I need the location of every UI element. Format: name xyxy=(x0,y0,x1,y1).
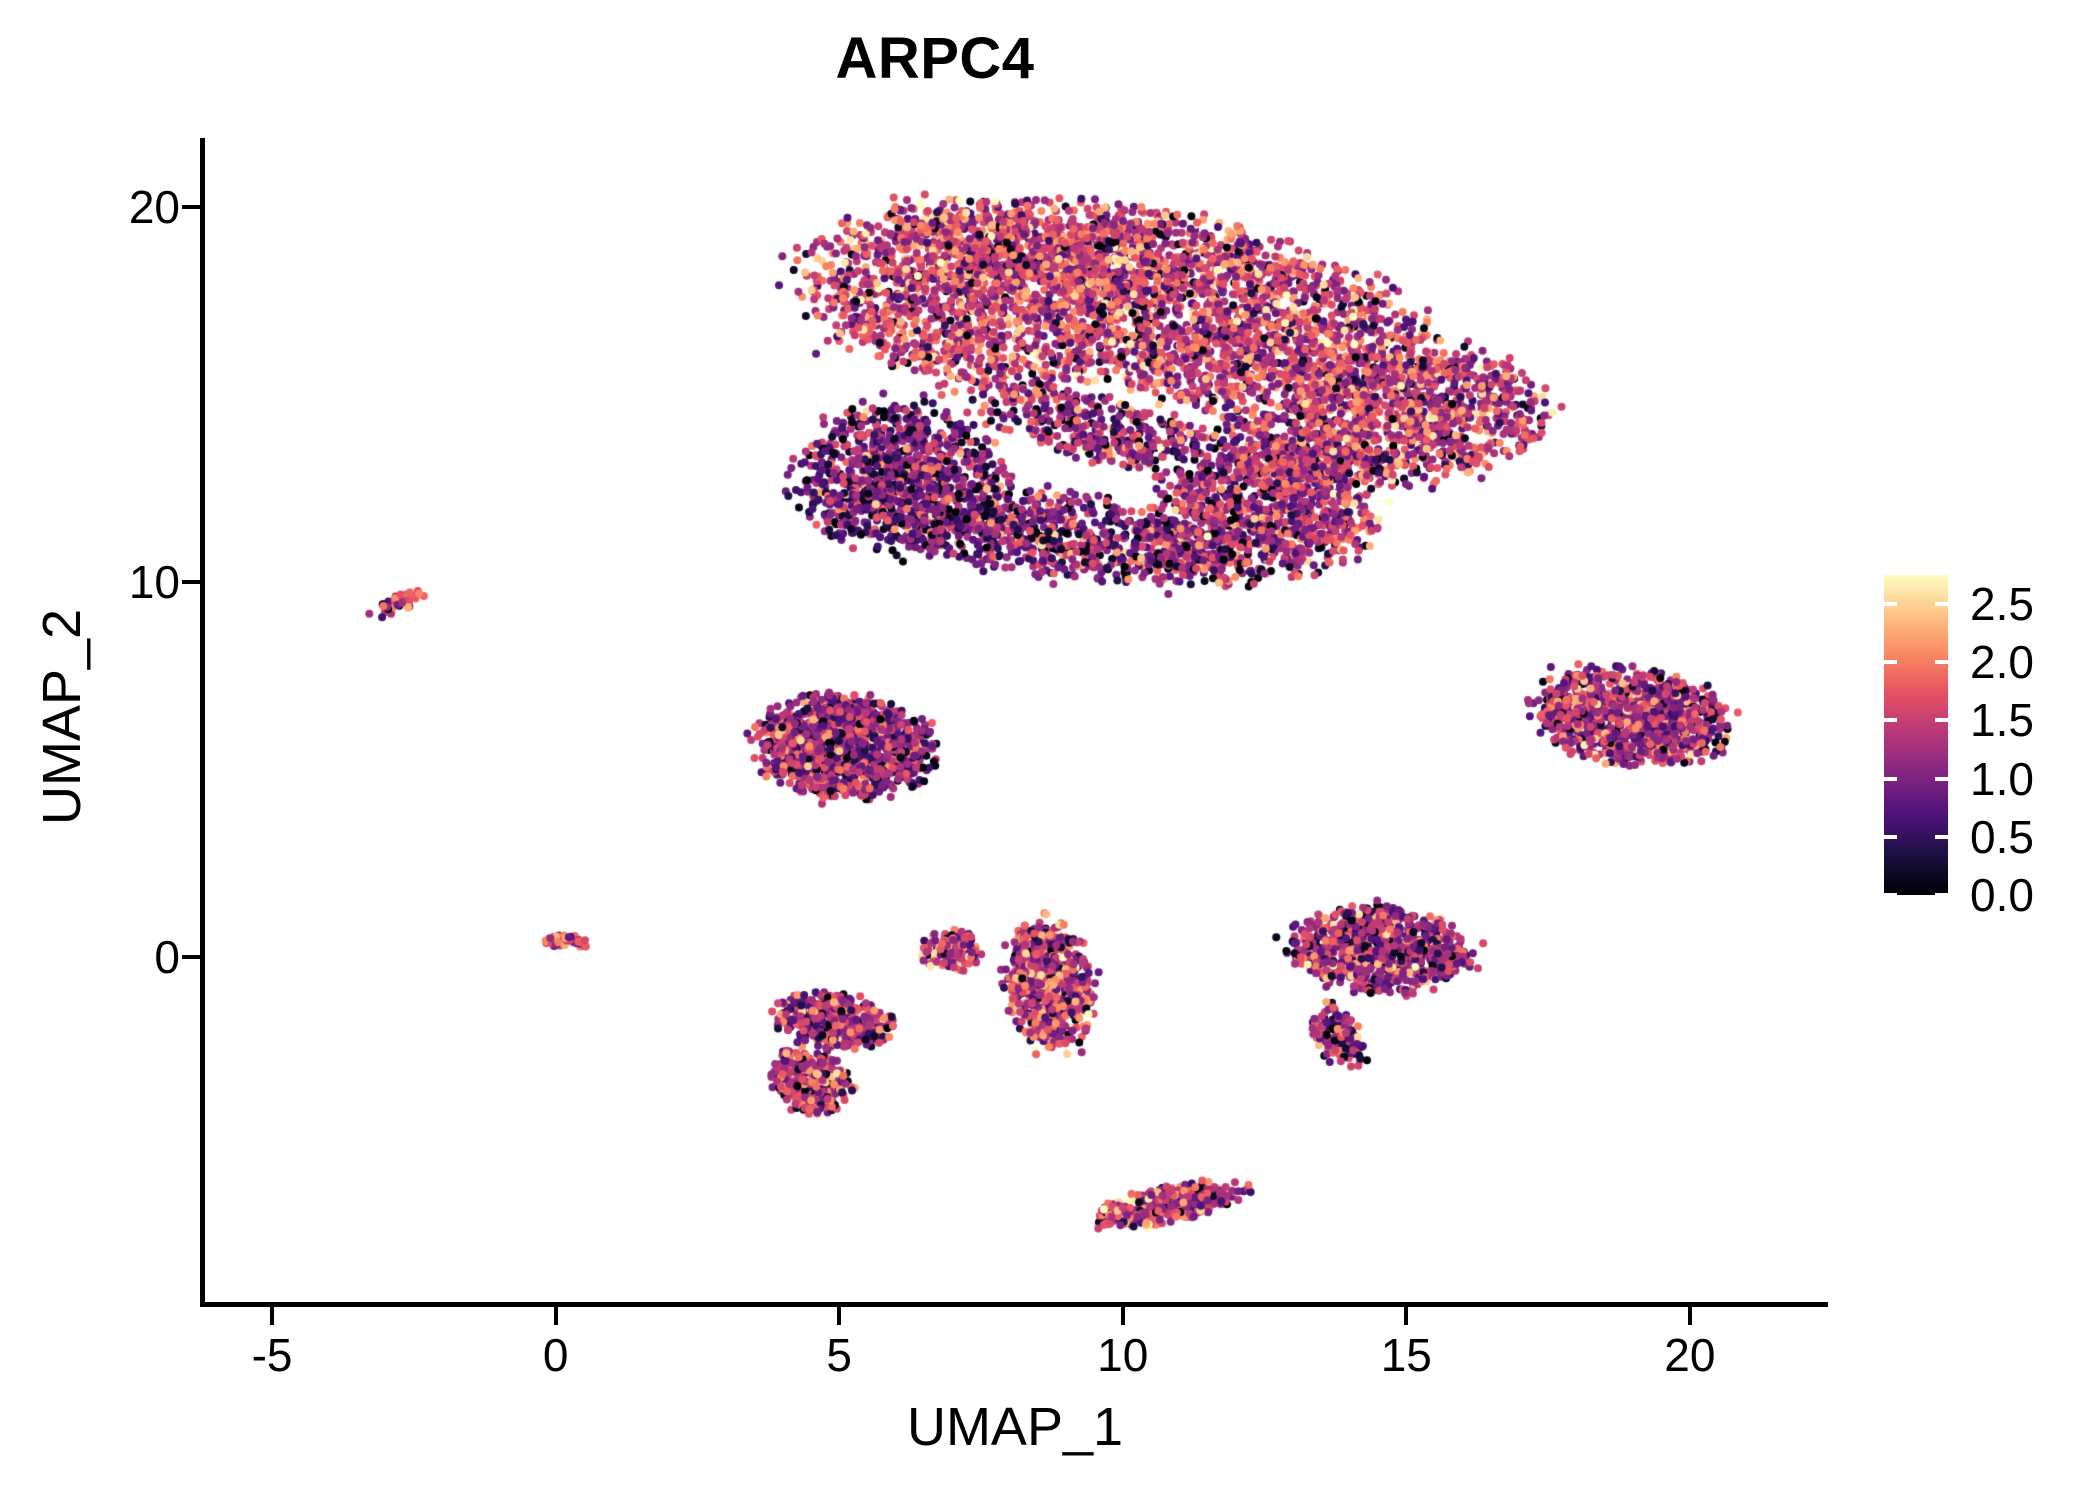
y-tick-label-0: 0 xyxy=(154,934,180,980)
y-tick-label-20: 20 xyxy=(129,184,180,230)
x-tick-5 xyxy=(837,1307,841,1325)
legend-tick-1.0 xyxy=(1935,777,1948,781)
legend-tick-0.5 xyxy=(1884,835,1897,839)
page-title: ARPC4 xyxy=(0,30,1870,88)
legend-tick-1.5 xyxy=(1935,718,1948,722)
legend-label-2.0: 2.0 xyxy=(1970,639,2034,685)
x-tick-20 xyxy=(1688,1307,1692,1325)
legend-tick-1.5 xyxy=(1884,718,1897,722)
color-legend: 0.00.51.01.52.02.5 xyxy=(1884,575,2084,900)
umap-feature-plot: ARPC4 01020 -505101520 UMAP_1 UMAP_2 0.0… xyxy=(0,0,2100,1500)
legend-label-0.0: 0.0 xyxy=(1970,872,2034,918)
x-tick-label-20: 20 xyxy=(1570,1332,1810,1378)
y-tick-20 xyxy=(182,205,200,209)
y-axis-spine xyxy=(200,138,205,1306)
x-tick-label--5: -5 xyxy=(152,1332,392,1378)
legend-tick-0.0 xyxy=(1935,893,1948,897)
x-axis-spine xyxy=(200,1302,1828,1307)
y-axis-title: UMAP_2 xyxy=(35,367,89,1067)
legend-label-1.0: 1.0 xyxy=(1970,756,2034,802)
y-tick-0 xyxy=(182,955,200,959)
plot-panel xyxy=(204,140,1826,1302)
y-tick-label-10: 10 xyxy=(129,559,180,605)
legend-tick-2.5 xyxy=(1935,602,1948,606)
x-tick--5 xyxy=(270,1307,274,1325)
x-tick-15 xyxy=(1404,1307,1408,1325)
x-axis-title: UMAP_1 xyxy=(204,1400,1826,1454)
legend-colorbar xyxy=(1884,575,1948,895)
y-tick-10 xyxy=(182,580,200,584)
legend-label-2.5: 2.5 xyxy=(1970,581,2034,627)
legend-label-0.5: 0.5 xyxy=(1970,814,2034,860)
legend-label-1.5: 1.5 xyxy=(1970,697,2034,743)
x-tick-label-10: 10 xyxy=(1003,1332,1243,1378)
legend-tick-2.0 xyxy=(1935,660,1948,664)
legend-tick-2.0 xyxy=(1884,660,1897,664)
legend-tick-0.0 xyxy=(1884,893,1897,897)
scatter-points-canvas xyxy=(204,140,1826,1302)
x-tick-10 xyxy=(1121,1307,1125,1325)
legend-tick-2.5 xyxy=(1884,602,1897,606)
legend-tick-0.5 xyxy=(1935,835,1948,839)
x-tick-label-0: 0 xyxy=(436,1332,676,1378)
legend-tick-1.0 xyxy=(1884,777,1897,781)
x-tick-0 xyxy=(554,1307,558,1325)
x-tick-label-15: 15 xyxy=(1286,1332,1526,1378)
x-tick-label-5: 5 xyxy=(719,1332,959,1378)
